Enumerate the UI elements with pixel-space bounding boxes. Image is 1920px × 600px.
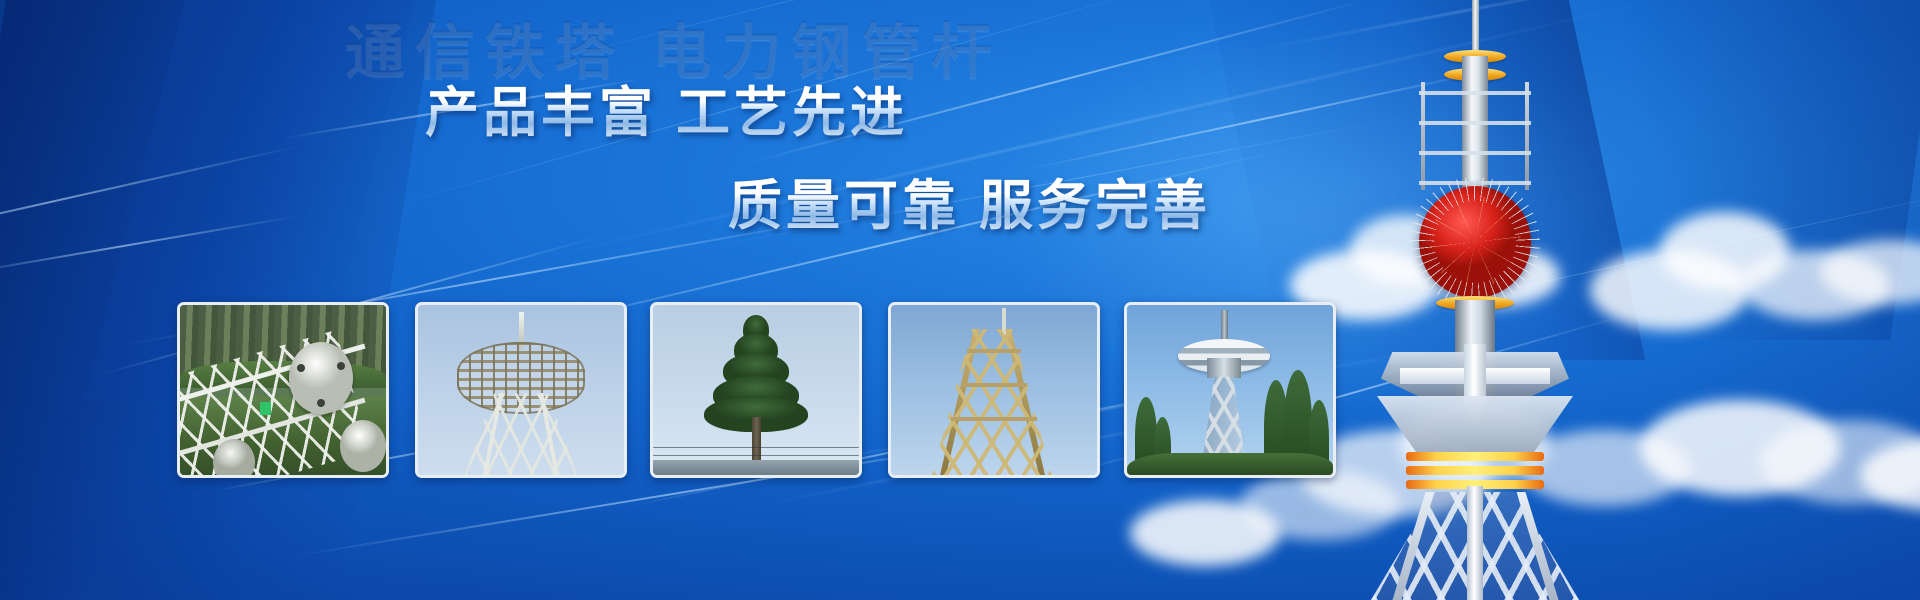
thumbnail-guyed-lattice-tower-with-antenna-mounts[interactable] xyxy=(177,302,389,478)
cloud xyxy=(1130,500,1280,566)
photo-pine-tree-tower xyxy=(653,305,859,475)
thumbnail-ring-type-microwave-tower[interactable] xyxy=(415,302,627,478)
tower-flared-skirt xyxy=(1377,396,1573,458)
thumbnail-camouflage-pine-tree-tower[interactable] xyxy=(650,302,862,478)
headline-line-1: 产品丰富 工艺先进 xyxy=(425,68,1330,147)
tower-gold-band-2 xyxy=(1406,466,1544,475)
headline-block: 产品丰富 工艺先进 质量可靠 服务完善 xyxy=(0,68,1330,240)
headline-line-2: 质量可靠 服务完善 xyxy=(728,161,1330,240)
tower-antenna-cage xyxy=(1419,82,1531,190)
tower-gold-band-1 xyxy=(1406,452,1544,461)
tower-red-sphere xyxy=(1419,186,1531,298)
broadcast-tower-illustration xyxy=(1360,0,1590,600)
tower-base-spine xyxy=(1467,486,1483,600)
photo-ring-tower xyxy=(418,305,624,475)
thumbnail-angle-steel-transmission-tower[interactable] xyxy=(888,302,1100,478)
photo-lattice-tower xyxy=(180,305,386,475)
promo-banner: 通信铁塔 电力钢管杆 产品丰富 工艺先进 质量可靠 服务完善 xyxy=(0,0,1920,600)
thumbnail-broadcast-tv-tower[interactable] xyxy=(1124,302,1336,478)
photo-angle-steel-tower xyxy=(891,305,1097,475)
thumbnail-strip xyxy=(0,302,1920,502)
photo-tv-tower xyxy=(1127,305,1333,475)
